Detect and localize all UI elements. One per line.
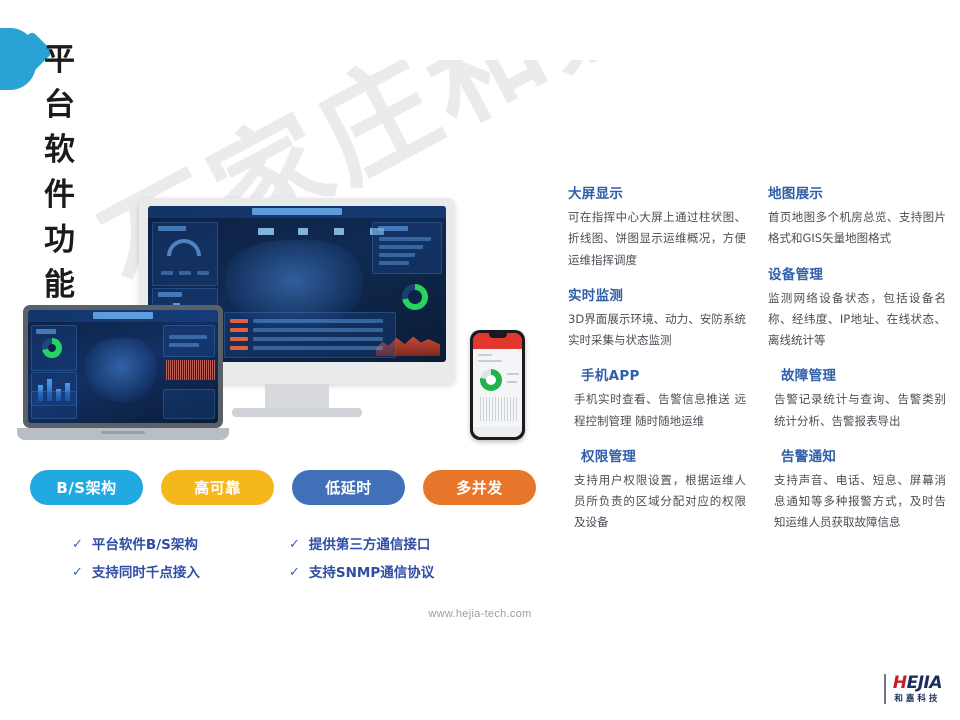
- smartphone: [470, 330, 525, 440]
- feature-title: 地图展示: [768, 182, 946, 202]
- list-item: ✓ 支持SNMP通信协议: [289, 561, 494, 581]
- dash-row: [169, 335, 207, 339]
- logo-en-prefix: H: [893, 673, 907, 693]
- checklist-label: 支持同时千点接入: [92, 561, 200, 581]
- dash-row: [253, 337, 383, 341]
- logo-text: HEJIA 和嘉科技: [893, 675, 942, 704]
- feature-body: 手机实时查看、告警信息推送 远程控制管理 随时随地运维: [568, 389, 746, 432]
- feature-body: 监测网络设备状态，包括设备名称、经纬度、IP地址、在线状态、离线统计等: [768, 288, 946, 352]
- feature-title: 故障管理: [768, 364, 946, 384]
- dash-sparkline: [165, 360, 215, 380]
- feature-body: 支持用户权限设置，根据运维人员所负责的区域分配对应的权限及设备: [568, 470, 746, 534]
- pill-high-reliability[interactable]: 高可靠: [161, 470, 274, 505]
- phone-progress-donut: [480, 369, 502, 391]
- pill-high-concurrency[interactable]: 多并发: [423, 470, 536, 505]
- dash-rank-panel: [372, 222, 442, 274]
- dash-gauge: [167, 239, 201, 256]
- monitor-stand: [265, 384, 329, 410]
- feature-body: 支持声音、电话、短息、屏幕消息通知等多种报警方式，及时告知运维人员获取故障信息: [768, 470, 946, 534]
- devices-illustration: [0, 150, 560, 470]
- feature-body: 首页地图多个机房总览、支持图片格式和GIS矢量地图格式: [768, 207, 946, 250]
- dash-row: [161, 271, 173, 275]
- dash-row: [179, 271, 191, 275]
- dash-title-bar: [252, 208, 342, 215]
- list-item: ✓ 平台软件B/S架构: [72, 533, 277, 553]
- dash-panel-head: [158, 226, 186, 231]
- phone-text-line: [478, 360, 502, 362]
- pill-bs-architecture[interactable]: B/S架构: [30, 470, 143, 505]
- phone-body: [470, 330, 525, 440]
- phone-tab-bar: [473, 427, 522, 437]
- phone-notch: [489, 333, 507, 338]
- check-icon: ✓: [289, 537, 300, 550]
- dash-row: [253, 319, 383, 323]
- dash-panel-head: [378, 226, 408, 231]
- feature-title: 告警通知: [768, 445, 946, 465]
- feature-title: 权限管理: [568, 445, 746, 465]
- pill-label: B/S架构: [56, 477, 116, 498]
- feature-column-left: 大屏显示 可在指挥中心大屏上通过柱状图、折线图、饼图显示运维概况，方便运维指挥调…: [568, 182, 746, 547]
- slide-root: 石家庄和嘉科技有限公司 平台软件功能: [0, 0, 960, 720]
- logo-en: HEJIA: [893, 675, 942, 692]
- dash-progress-donut: [402, 284, 428, 310]
- dash-gauge-panel: [31, 325, 77, 371]
- dash-region-map: [85, 338, 157, 401]
- dash-alert-badge: [230, 337, 248, 341]
- phone-text-line: [507, 373, 519, 375]
- dash-alert-badge: [230, 328, 248, 332]
- monitor-base: [232, 408, 362, 417]
- dash-alert-badge: [230, 319, 248, 323]
- logo-cn: 和嘉科技: [894, 695, 940, 704]
- laptop-deck: [17, 428, 229, 440]
- dash-kpi: [334, 228, 344, 235]
- dash-log-panel: [163, 389, 215, 419]
- pill-label: 多并发: [456, 477, 503, 498]
- laptop-lid: [23, 305, 223, 428]
- feature-body: 3D界面展示环境、动力、安防系统实时采集与状态监测: [568, 309, 746, 352]
- feature-body: 告警记录统计与查询、告警类别统计分析、告警报表导出: [768, 389, 946, 432]
- checklist-label: 平台软件B/S架构: [92, 533, 198, 553]
- laptop-screen: [28, 310, 218, 423]
- company-logo: HEJIA 和嘉科技: [884, 674, 942, 704]
- dash-info-panel: [163, 325, 215, 357]
- dash-alert-badge: [230, 346, 248, 350]
- phone-screen: [473, 333, 522, 437]
- page-title: 平台软件功能: [44, 34, 76, 304]
- dash-row: [253, 346, 383, 350]
- feature-mobile-app: 手机APP 手机实时查看、告警信息推送 远程控制管理 随时随地运维: [568, 364, 746, 432]
- checklist: ✓ 平台软件B/S架构 ✓ 提供第三方通信接口 ✓ 支持同时千点接入 ✓ 支持S…: [72, 533, 492, 581]
- phone-text-line: [478, 354, 492, 356]
- phone-line-chart: [478, 397, 517, 421]
- list-item: ✓ 提供第三方通信接口: [289, 533, 494, 553]
- feature-title: 实时监测: [568, 284, 746, 304]
- dash-row: [169, 343, 199, 347]
- feature-fault-management: 故障管理 告警记录统计与查询、告警类别统计分析、告警报表导出: [768, 364, 946, 432]
- feature-title: 设备管理: [768, 263, 946, 283]
- feature-title: 手机APP: [568, 364, 746, 384]
- dash-alert-table: [224, 312, 396, 358]
- logo-divider: [884, 674, 886, 704]
- feature-map-display: 地图展示 首页地图多个机房总览、支持图片格式和GIS矢量地图格式: [768, 182, 946, 250]
- pill-label: 低延时: [325, 477, 372, 498]
- dash-row: [197, 271, 209, 275]
- dash-gauge-panel: [152, 222, 218, 286]
- checklist-label: 支持SNMP通信协议: [309, 561, 434, 581]
- dash-kpi: [298, 228, 308, 235]
- feature-device-management: 设备管理 监测网络设备状态，包括设备名称、经纬度、IP地址、在线状态、离线统计等: [768, 263, 946, 352]
- dash-table-panel: [31, 391, 77, 419]
- feature-body: 可在指挥中心大屏上通过柱状图、折线图、饼图显示运维概况，方便运维指挥调度: [568, 207, 746, 271]
- feature-big-screen-display: 大屏显示 可在指挥中心大屏上通过柱状图、折线图、饼图显示运维概况，方便运维指挥调…: [568, 182, 746, 271]
- logo-en-rest: EJIA: [907, 673, 942, 693]
- feature-column-right: 地图展示 首页地图多个机房总览、支持图片格式和GIS矢量地图格式 设备管理 监测…: [768, 182, 946, 547]
- dash-row: [379, 253, 415, 257]
- dash-panel-head: [158, 292, 182, 297]
- phone-text-line: [507, 381, 517, 383]
- dash-panel-head: [36, 329, 56, 334]
- pill-label: 高可靠: [194, 477, 241, 498]
- dash-progress-donut: [42, 338, 62, 358]
- feature-permission-management: 权限管理 支持用户权限设置，根据运维人员所负责的区域分配对应的权限及设备: [568, 445, 746, 534]
- feature-alarm-notification: 告警通知 支持声音、电话、短息、屏幕消息通知等多种报警方式，及时告知运维人员获取…: [768, 445, 946, 534]
- dash-kpi: [258, 228, 274, 235]
- dash-row: [253, 328, 383, 332]
- check-icon: ✓: [289, 565, 300, 578]
- dash-row: [379, 261, 409, 265]
- feature-pills: B/S架构 高可靠 低延时 多并发: [30, 470, 536, 505]
- list-item: ✓ 支持同时千点接入: [72, 561, 277, 581]
- feature-title: 大屏显示: [568, 182, 746, 202]
- dash-row: [379, 245, 423, 249]
- website-url: www.hejia-tech.com: [0, 608, 960, 620]
- dash-row: [379, 237, 431, 241]
- check-icon: ✓: [72, 565, 83, 578]
- dash-title-bar: [93, 312, 153, 319]
- feature-realtime-monitoring: 实时监测 3D界面展示环境、动力、安防系统实时采集与状态监测: [568, 284, 746, 352]
- pill-low-latency[interactable]: 低延时: [292, 470, 405, 505]
- check-icon: ✓: [72, 537, 83, 550]
- checklist-label: 提供第三方通信接口: [309, 533, 431, 553]
- header-accent-arrow: [0, 28, 36, 90]
- laptop: [17, 305, 229, 440]
